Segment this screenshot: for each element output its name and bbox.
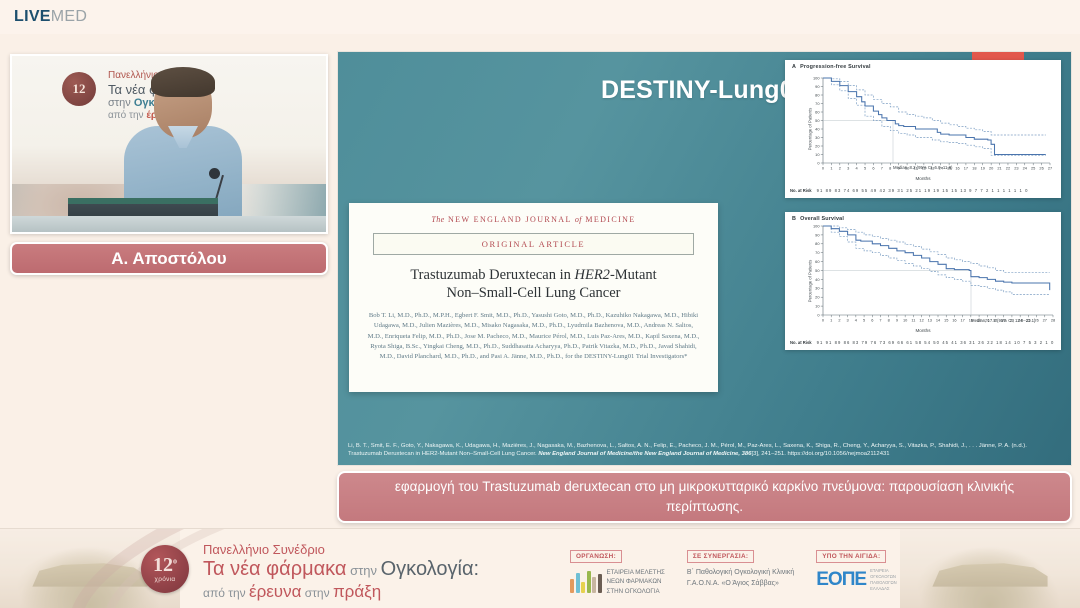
svg-text:6: 6 (871, 318, 873, 323)
slide-canvas[interactable]: DESTINY-Lung01 The NEW ENGLAND JOURNAL o… (337, 51, 1072, 466)
nejm-article-card: The NEW ENGLAND JOURNAL of MEDICINE ORIG… (349, 203, 718, 392)
svg-text:2: 2 (839, 166, 841, 171)
speaker-hair (151, 67, 215, 97)
nejm-masthead-main: NEW ENGLAND JOURNAL (448, 215, 571, 224)
slide-citation: Li, B. T., Smit, E. F., Goto, Y., Nakaga… (348, 442, 1061, 459)
congress-line-2: Τα νέα φάρμακα στην Ογκολογία: (203, 558, 479, 581)
svg-text:22: 22 (1006, 166, 1010, 171)
caption-line-1: εφαρμογή του Trastuzumab deruxtecan στο … (395, 479, 963, 494)
podium-desk (12, 216, 326, 232)
panel-b-risk-values: 91 91 89 86 83 79 76 73 69 66 61 58 54 5… (817, 340, 1055, 345)
congress-line-2-a: Τα νέα φάρμακα (203, 558, 347, 580)
congress-line-3: από την έρευνα στην πράξη (203, 582, 479, 601)
svg-text:19: 19 (981, 166, 985, 171)
emena-bars-logo-icon (570, 571, 602, 593)
svg-text:7: 7 (879, 318, 881, 323)
svg-text:40: 40 (815, 277, 820, 282)
nejm-masthead: The NEW ENGLAND JOURNAL of MEDICINE (363, 213, 704, 224)
top-bar: LIVEMED (0, 0, 1080, 34)
svg-text:14: 14 (936, 318, 941, 323)
anniversary-seal-icon: 12ο χρόνια (141, 545, 189, 593)
svg-text:7: 7 (881, 166, 883, 171)
nejm-article-title: Trastuzumab Deruxtecan in HER2-Mutant No… (363, 266, 704, 302)
svg-text:40: 40 (815, 126, 820, 131)
congress-footer: 12ο χρόνια Πανελλήνιο Συνέδριο Τα νέα φά… (0, 528, 1080, 608)
svg-text:11: 11 (911, 318, 915, 323)
eope-mark: ΕΟΠΕ (816, 570, 866, 589)
congress-line-3-d: πράξη (333, 582, 381, 601)
svg-text:5: 5 (863, 318, 865, 323)
backdrop-seal-icon: 12 (62, 72, 96, 106)
svg-text:27: 27 (1043, 318, 1047, 323)
microphone-icon (209, 168, 220, 179)
svg-text:0: 0 (817, 160, 820, 165)
citation-title: Trastuzumab Deruxtecan in HER2-Mutant No… (348, 451, 538, 457)
svg-text:30: 30 (815, 286, 820, 291)
svg-text:26: 26 (1039, 166, 1043, 171)
svg-text:20: 20 (815, 295, 820, 300)
seal-number-value: 12 (153, 554, 173, 576)
logo-live-text: LIVE (14, 8, 51, 25)
eope-logo-icon: ΕΟΠΕ ΕΤΑΙΡΕΙΑΟΓΚΟΛΟΓΩΝΠΑΘΟΛΟΓΩΝΕΛΛΑΔΑΣ (816, 568, 896, 592)
nejm-title-line-2: Non–Small-Cell Lung Cancer (447, 285, 621, 301)
citation-doi[interactable]: https://doi.org/10.1056/nejmoa2112431 (787, 451, 889, 457)
congress-line-3-b: έρευνα (249, 582, 301, 601)
svg-text:3: 3 (847, 318, 849, 323)
talk-caption-bar: εφαρμογή του Trastuzumab deruxtecan στο … (337, 471, 1072, 523)
svg-text:100: 100 (813, 223, 820, 228)
panel-b-risk-table: No. at Risk91 91 89 86 83 79 76 73 69 66… (790, 340, 1054, 345)
panel-b-median-annotation: Median, 17.8 (95% CI, 13.8–22.1) (971, 318, 1036, 323)
logo-med-text: MED (51, 8, 87, 25)
svg-text:70: 70 (815, 250, 820, 255)
svg-text:80: 80 (815, 92, 820, 97)
svg-text:90: 90 (815, 84, 820, 89)
nejm-author-list: Bob T. Li, M.D., Ph.D., M.P.H., Egbert F… (363, 311, 704, 362)
presentation-stage: 12 Πανελλήνιο Σ Τα νέα φά στην Ογκο από … (0, 34, 1080, 528)
nejm-title-part-a: Trastuzumab Deruxtecan in (410, 267, 574, 283)
collaborator-column: ΣΕ ΣΥΝΕΡΓΑΣΙΑ: Β΄ Παθολογική Ογκολογική … (687, 545, 794, 596)
congress-line-3-a: από την (203, 586, 249, 600)
panel-a-risk-label: No. at Risk (790, 188, 812, 193)
svg-text:50: 50 (815, 268, 820, 273)
panel-b-x-axis-label: Months (785, 328, 1061, 333)
svg-text:4: 4 (855, 318, 858, 323)
svg-text:10: 10 (815, 152, 820, 157)
svg-text:5: 5 (864, 166, 866, 171)
svg-text:4: 4 (856, 166, 859, 171)
organizer-name: ΕΤΑΙΡΕΙΑ ΜΕΛΕΤΗΣΝΕΩΝ ΦΑΡΜΑΚΩΝΣΤΗΝ ΟΓΚΟΛΟ… (607, 568, 665, 596)
svg-text:2: 2 (838, 318, 840, 323)
svg-text:25: 25 (1031, 166, 1035, 171)
nejm-masthead-medicine: MEDICINE (585, 215, 635, 224)
svg-text:0: 0 (822, 166, 825, 171)
nejm-original-article-badge: ORIGINAL ARTICLE (373, 233, 694, 255)
svg-text:13: 13 (928, 318, 932, 323)
svg-text:16: 16 (955, 166, 959, 171)
svg-text:28: 28 (1051, 318, 1055, 323)
svg-text:8: 8 (888, 318, 890, 323)
auspices-column: ΥΠΟ ΤΗΝ ΑΙΓΙΔΑ: ΕΟΠΕ ΕΤΑΙΡΕΙΑΟΓΚΟΛΟΓΩΝΠΑ… (816, 545, 896, 596)
congress-title-block: Πανελλήνιο Συνέδριο Τα νέα φάρμακα στην … (203, 543, 479, 601)
seal-word: χρόνια (155, 576, 176, 583)
svg-text:90: 90 (815, 232, 820, 237)
svg-text:10: 10 (815, 304, 820, 309)
congress-line-2-c: Ογκολογία: (381, 558, 479, 580)
svg-text:15: 15 (944, 318, 948, 323)
congress-line-2-b: στην (347, 563, 381, 578)
panel-a-x-axis-label: Months (785, 176, 1061, 181)
citation-issue: [3], 241–251. (751, 451, 787, 457)
svg-text:8: 8 (889, 166, 891, 171)
eope-subtext: ΕΤΑΙΡΕΙΑΟΓΚΟΛΟΓΩΝΠΑΘΟΛΟΓΩΝΕΛΛΑΔΑΣ (870, 568, 897, 592)
svg-text:20: 20 (815, 143, 820, 148)
seal-number-sup: ο (173, 556, 177, 565)
panel-a-risk-table: No. at Risk91 89 83 74 69 55 49 42 39 31… (790, 188, 1028, 193)
organizer-body: ΕΤΑΙΡΕΙΑ ΜΕΛΕΤΗΣΝΕΩΝ ΦΑΡΜΑΚΩΝΣΤΗΝ ΟΓΚΟΛΟ… (570, 568, 665, 596)
nejm-masthead-the: The (431, 215, 444, 224)
panel-b-risk-label: No. at Risk (790, 340, 812, 345)
nejm-title-part-c: -Mutant (610, 267, 657, 283)
speaker-panel: 12 Πανελλήνιο Σ Τα νέα φά στην Ογκο από … (10, 54, 328, 275)
svg-text:30: 30 (815, 135, 820, 140)
svg-text:21: 21 (997, 166, 1001, 171)
svg-text:70: 70 (815, 101, 820, 106)
svg-text:10: 10 (903, 318, 908, 323)
collaborator-heading: ΣΕ ΣΥΝΕΡΓΑΣΙΑ: (687, 550, 754, 563)
citation-journal: New England Journal of Medicine/the New … (538, 451, 751, 457)
svg-text:1: 1 (830, 318, 832, 323)
nejm-masthead-of: of (575, 215, 582, 224)
svg-text:17: 17 (964, 166, 968, 171)
auspices-body: ΕΟΠΕ ΕΤΑΙΡΕΙΑΟΓΚΟΛΟΓΩΝΠΑΘΟΛΟΓΩΝΕΛΛΑΔΑΣ (816, 568, 896, 592)
svg-text:0: 0 (822, 318, 825, 323)
svg-text:17: 17 (960, 318, 964, 323)
svg-text:0: 0 (817, 312, 820, 317)
svg-text:100: 100 (813, 75, 820, 80)
svg-text:1: 1 (830, 166, 832, 171)
chart-panel-progression-free-survival: AProgression-free Survival Percentage of… (785, 60, 1061, 198)
svg-text:16: 16 (952, 318, 956, 323)
caption-text: εφαρμογή του Trastuzumab deruxtecan στο … (355, 477, 1054, 516)
panel-a-median-annotation: Median, 8.2 (95% CI, 6.0–11.8) (893, 165, 952, 170)
svg-text:6: 6 (872, 166, 874, 171)
svg-text:60: 60 (815, 259, 820, 264)
citation-authors: Li, B. T., Smit, E. F., Goto, Y., Nakaga… (348, 443, 1027, 449)
svg-text:20: 20 (989, 166, 994, 171)
collaborator-body: Β΄ Παθολογική Ογκολογική ΚλινικήΓ.Α.Ο.Ν.… (687, 568, 794, 590)
svg-text:60: 60 (815, 109, 820, 114)
svg-text:9: 9 (896, 318, 898, 323)
speaker-video[interactable]: 12 Πανελλήνιο Σ Τα νέα φά στην Ογκο από … (10, 54, 328, 234)
organizer-heading: ΟΡΓΑΝΩΣΗ: (570, 550, 622, 563)
congress-line-1: Πανελλήνιο Συνέδριο (203, 543, 479, 558)
organizer-logos: ΟΡΓΑΝΩΣΗ: ΕΤΑΙΡΕΙΑ ΜΕΛΕΤΗΣΝΕΩΝ ΦΑΡΜΑΚΩΝΣ… (570, 545, 897, 596)
svg-text:50: 50 (815, 118, 820, 123)
speaker-name-plate: Α. Αποστόλου (10, 242, 328, 275)
collaborator-name: Β΄ Παθολογική Ογκολογική ΚλινικήΓ.Α.Ο.Ν.… (687, 568, 794, 590)
acropolis-artwork-right-icon (900, 529, 1080, 608)
congress-line-3-c: στην (301, 586, 333, 600)
svg-text:3: 3 (847, 166, 849, 171)
nejm-title-her2: HER2 (575, 267, 610, 283)
svg-text:80: 80 (815, 241, 820, 246)
chart-panel-overall-survival: BOverall Survival Percentage of Patients… (785, 212, 1061, 350)
panel-a-risk-values: 91 89 83 74 69 55 49 42 39 31 25 21 19 1… (817, 188, 1029, 193)
livemed-logo[interactable]: LIVEMED (14, 8, 87, 26)
svg-text:23: 23 (1014, 166, 1018, 171)
auspices-heading: ΥΠΟ ΤΗΝ ΑΙΓΙΔΑ: (816, 550, 886, 563)
svg-text:18: 18 (972, 166, 976, 171)
svg-text:24: 24 (1023, 166, 1028, 171)
svg-text:12: 12 (919, 318, 923, 323)
seal-number: 12ο (153, 555, 177, 575)
organizer-column: ΟΡΓΑΝΩΣΗ: ΕΤΑΙΡΕΙΑ ΜΕΛΕΤΗΣΝΕΩΝ ΦΑΡΜΑΚΩΝΣ… (570, 545, 665, 596)
svg-text:27: 27 (1048, 166, 1052, 171)
